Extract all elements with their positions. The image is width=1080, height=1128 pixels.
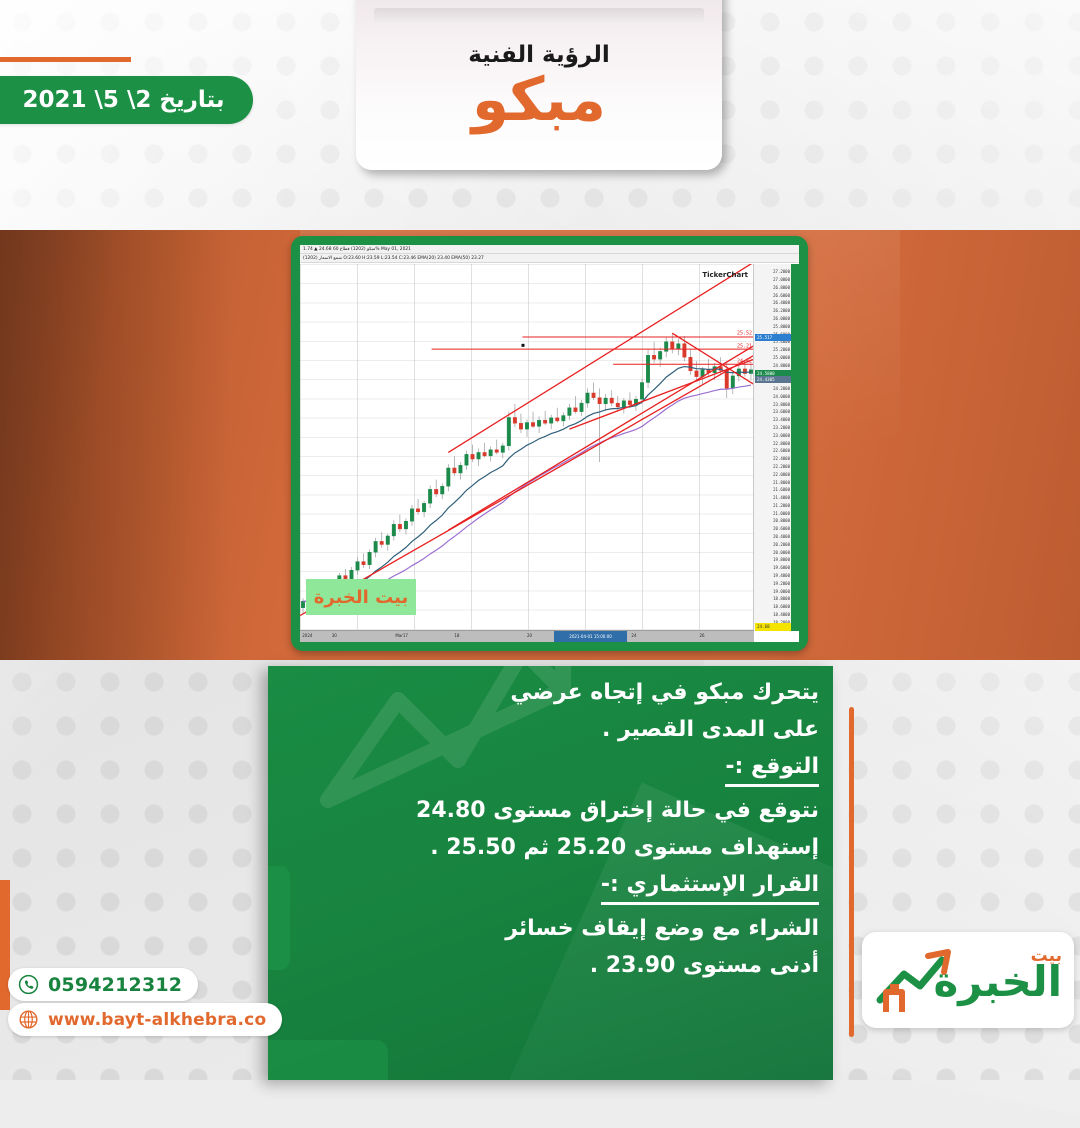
price-tick: 22.8000 [773, 441, 790, 446]
chart-overlays [300, 264, 754, 629]
level-line-group [432, 337, 754, 364]
price-tick: 23.4000 [773, 417, 790, 422]
price-tick: 19.6000 [773, 565, 790, 570]
price-tick: 23.0000 [773, 433, 790, 438]
whatsapp-icon [18, 974, 39, 995]
chart-watermark-label: بيت الخبرة [314, 587, 409, 608]
price-tick: 19.0000 [773, 589, 790, 594]
price-tick: 20.2000 [773, 542, 790, 547]
logo-big-text: الخبرة [933, 961, 1062, 1003]
price-tick: 23.8000 [773, 402, 790, 407]
price-chip: 25.517 [755, 334, 791, 341]
price-tick: 19.8000 [773, 557, 790, 562]
price-tick: 26.8000 [773, 285, 790, 290]
header-card: الرؤية الفنية مبكو [356, 0, 722, 170]
analysis-line: أدنى مستوى 23.90 . [282, 949, 819, 979]
price-tick: 26.2000 [773, 308, 790, 313]
price-tick: 19.2000 [773, 581, 790, 586]
date-accent-rule [0, 57, 131, 62]
price-tick: 18.4000 [773, 612, 790, 617]
price-tick: 24.2000 [773, 386, 790, 391]
price-level-label: 25.52 [737, 331, 752, 337]
price-tick: 23.2000 [773, 425, 790, 430]
price-tick: 24.0000 [773, 394, 790, 399]
header-card-notch [374, 8, 704, 23]
page-title: مبكو [356, 70, 722, 130]
price-tick: 21.2000 [773, 503, 790, 508]
price-tick: 22.2000 [773, 464, 790, 469]
price-level-label: 25.21 [737, 343, 752, 349]
price-tick: 20.8000 [773, 518, 790, 523]
contact-website-pill[interactable]: www.bayt-alkhebra.co [8, 1003, 282, 1036]
analysis-heading: التوقع :- [725, 750, 819, 787]
globe-icon [18, 1009, 39, 1030]
contact-website-url: www.bayt-alkhebra.co [48, 1010, 266, 1030]
price-tick: 24.8000 [773, 363, 790, 368]
time-tick: Mar17 [395, 632, 408, 640]
orange-accent-line [849, 707, 854, 1037]
price-tick: 25.8000 [773, 324, 790, 329]
analysis-text-block: يتحرك مبكو في إتجاه عرضيعلى المدى القصير… [282, 676, 819, 986]
logo-text-group: بيت الخبرة [933, 948, 1062, 1003]
price-tick: 26.0000 [773, 316, 790, 321]
price-tick: 20.0000 [773, 550, 790, 555]
chart-marker-dot [522, 344, 525, 347]
date-badge-label: بتاريخ 2\ 5\ 2021 [10, 87, 224, 113]
price-tick: 25.2000 [773, 347, 790, 352]
analysis-line: على المدى القصير . [282, 713, 819, 743]
price-tick: 21.4000 [773, 495, 790, 500]
orange-band-shadow [0, 230, 230, 660]
price-tick: 22.0000 [773, 472, 790, 477]
analysis-line: نتوقع في حالة إختراق مستوى 24.80 [282, 794, 819, 824]
panel-tab-decor-2 [268, 1040, 388, 1080]
trendline-group [300, 264, 754, 616]
chart-info-line-1: مبكو (1202) قطاع 60 24.68 ▲ 1.74% May 01… [300, 245, 799, 254]
time-tick: 18 [454, 632, 459, 640]
contact-phone-number: 0594212312 [48, 974, 182, 996]
brand-logo-card[interactable]: بيت الخبرة [862, 932, 1074, 1028]
price-tick: 26.6000 [773, 293, 790, 298]
price-tick: 23.6000 [773, 409, 790, 414]
price-chip: 24.4305 [755, 376, 791, 383]
chart-plot-area[interactable]: TickerChart 25.5225.2124.82 بيت الخبرة [300, 264, 754, 631]
price-tick: 25.0000 [773, 355, 790, 360]
price-axis[interactable]: 27.200027.000026.800026.600026.400026.20… [753, 264, 791, 631]
price-tick: 21.8000 [773, 480, 790, 485]
time-tick: 30 [332, 632, 337, 640]
chart-frame: مبكو (1202) قطاع 60 24.68 ▲ 1.74% May 01… [291, 236, 808, 651]
time-axis[interactable]: 202430Mar17182024262021-04-01 15:00:00 [300, 630, 754, 642]
axis-green-strip [791, 264, 799, 631]
price-tick: 26.4000 [773, 300, 790, 305]
time-tick: 2024 [302, 632, 312, 640]
analysis-line: إستهداف مستوى 25.20 ثم 25.50 . [282, 831, 819, 861]
date-badge: بتاريخ 2\ 5\ 2021 [0, 76, 253, 124]
price-tick: 22.6000 [773, 448, 790, 453]
time-tick: 26 [700, 632, 705, 640]
price-tick: 18.8000 [773, 596, 790, 601]
price-tick: 18.6000 [773, 604, 790, 609]
price-tick: 27.0000 [773, 277, 790, 282]
price-tick: 27.2000 [773, 269, 790, 274]
price-tick: 20.4000 [773, 534, 790, 539]
chart-canvas[interactable]: مبكو (1202) قطاع 60 24.68 ▲ 1.74% May 01… [300, 245, 799, 642]
analysis-panel: يتحرك مبكو في إتجاه عرضيعلى المدى القصير… [268, 666, 833, 1080]
price-tick: 21.0000 [773, 511, 790, 516]
analysis-heading: القرار الإستثماري :- [601, 868, 819, 905]
time-axis-selected-label: 2021-04-01 15:00:00 [554, 631, 627, 642]
tickerchart-watermark: TickerChart [702, 271, 748, 279]
price-tick: 22.4000 [773, 456, 790, 461]
contact-phone-pill[interactable]: 0594212312 [8, 968, 198, 1001]
price-chip-bottom: 24.68 [755, 623, 791, 631]
price-level-label: 24.82 [737, 358, 752, 364]
time-tick: 20 [527, 632, 532, 640]
price-tick: 20.6000 [773, 526, 790, 531]
price-tick: 19.4000 [773, 573, 790, 578]
analysis-line: الشراء مع وضع إيقاف خسائر [282, 912, 819, 942]
chart-watermark-box: بيت الخبرة [306, 579, 416, 615]
chart-info-line-2: شمع الاسعار (1202) O:23.60 H:23.59 L:23.… [300, 254, 799, 263]
price-tick: 21.6000 [773, 487, 790, 492]
time-tick: 24 [631, 632, 636, 640]
analysis-line: يتحرك مبكو في إتجاه عرضي [282, 676, 819, 706]
